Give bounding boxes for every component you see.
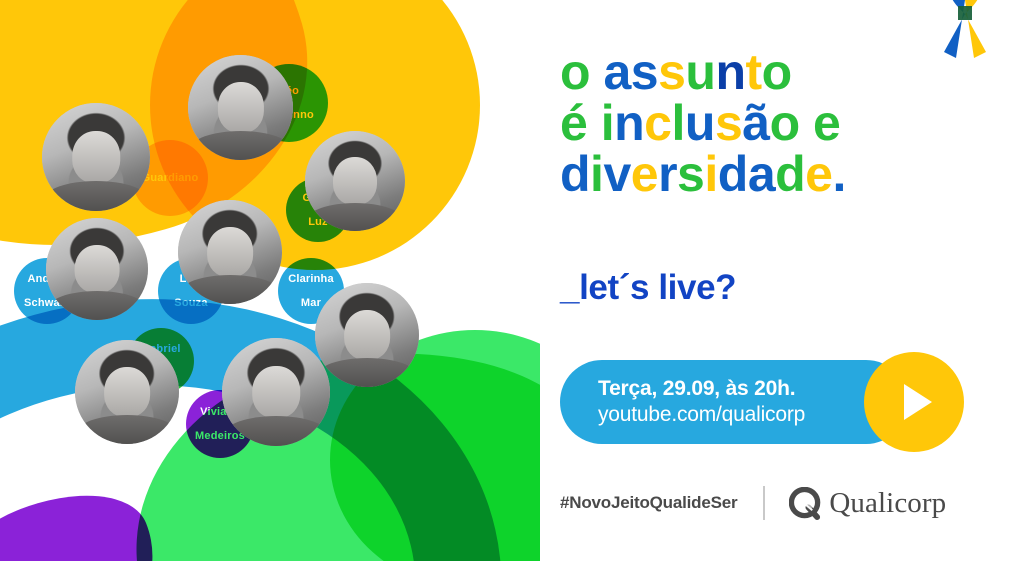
play-button[interactable] [864,352,964,452]
footer-divider [763,486,765,520]
cta-date: Terça, 29.09, às 20h. [598,376,908,402]
poster-canvas: Guardiano Léo Viturinno Geisa [0,0,1010,561]
qualicorp-wordmark: Qualicorp [829,487,946,520]
qualicorp-q-icon [789,487,822,520]
speaker-photo [222,338,330,446]
speaker-photo [315,283,419,387]
speaker-photo [42,103,150,211]
headline: o assunto é inclusão e diversidade. [560,48,1000,201]
footer: #NovoJeitoQualideSer Qualicorp [560,482,1000,524]
cta-banner[interactable]: Terça, 29.09, às 20h. youtube.com/qualic… [560,360,908,444]
hashtag: #NovoJeitoQualideSer [560,493,737,513]
speaker-photo [305,131,405,231]
headline-line-3: diversidade. [560,150,1000,199]
message-panel: o assunto é inclusão e diversidade. _let… [548,0,1010,561]
play-icon [904,384,932,420]
headline-line-2: é inclusão e [560,99,1000,148]
speaker-photo [178,200,282,304]
subline: _let´s live? [560,268,736,308]
speaker-name-line1: Guardiano [142,172,199,184]
speakers-collage: Guardiano Léo Viturinno Geisa [0,0,540,561]
speaker-photo [75,340,179,444]
headline-line-1: o assunto [560,48,1000,97]
speaker-photo [188,55,293,160]
qualicorp-logo: Qualicorp [789,487,946,520]
speaker-photo [46,218,148,320]
cta-url: youtube.com/qualicorp [598,402,908,428]
